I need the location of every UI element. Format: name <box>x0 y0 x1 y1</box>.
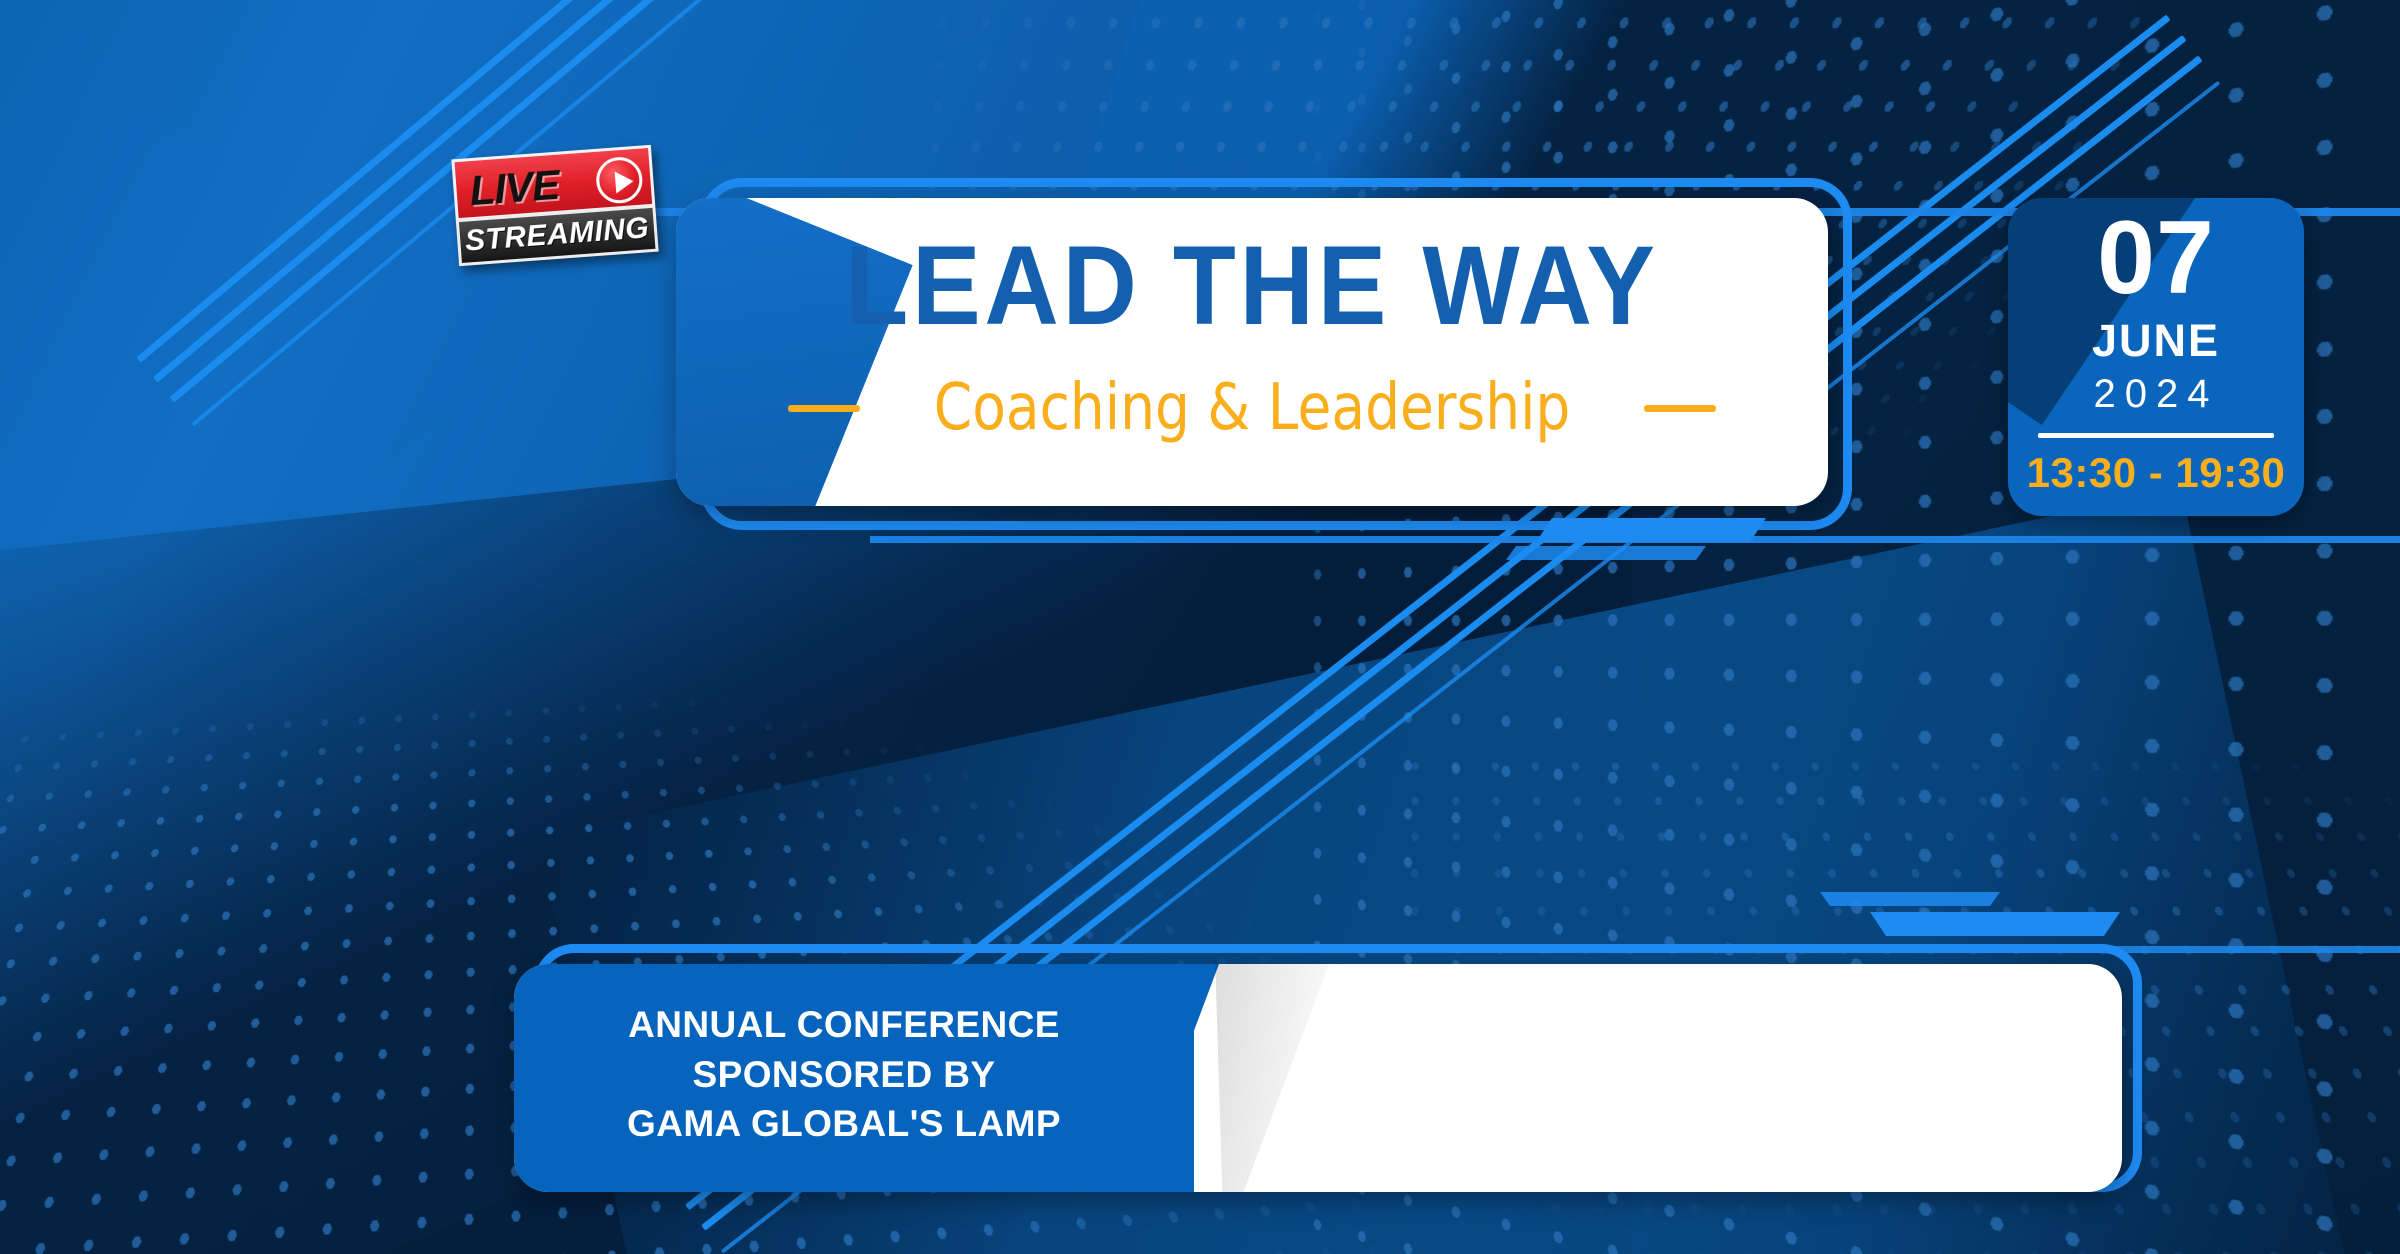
sponsor-card-wedge-shadow <box>1214 964 1454 1192</box>
subtitle-dash-left <box>788 405 860 412</box>
sponsor-line-1: ANNUAL CONFERENCE <box>514 1000 1174 1050</box>
event-month: JUNE <box>2008 318 2304 363</box>
title-subtitle-row: Coaching & Leadership <box>676 376 1828 440</box>
title-accent-bar-secondary <box>1506 546 1706 560</box>
sponsor-line-3: GAMA GLOBAL'S LAMP <box>514 1099 1174 1149</box>
event-time-range: 13:30 - 19:30 <box>2008 452 2304 494</box>
title-card: LEAD THE WAY Coaching & Leadership <box>676 198 1828 506</box>
bottom-accent-bar <box>1870 912 2120 936</box>
bottom-accent-bar-secondary <box>1820 892 2000 906</box>
sponsor-line-2: SPONSORED BY <box>514 1050 1174 1100</box>
subtitle-dash-right <box>1644 405 1716 412</box>
play-icon <box>595 156 644 205</box>
event-banner: LIVE STREAMING LEAD THE WAY Coaching & L… <box>0 0 2400 1254</box>
event-day: 07 <box>2008 206 2304 310</box>
streaming-label: STREAMING <box>459 211 655 259</box>
page-subtitle: Coaching & Leadership <box>934 376 1571 440</box>
live-streaming-badge[interactable]: LIVE STREAMING <box>451 145 658 266</box>
live-label: LIVE <box>468 161 561 215</box>
date-divider <box>2038 433 2274 438</box>
event-year: 2024 <box>2008 374 2304 414</box>
date-card: 07 JUNE 2024 13:30 - 19:30 <box>2008 198 2304 516</box>
page-title: LEAD THE WAY <box>722 230 1782 342</box>
title-accent-bar <box>1536 518 1766 542</box>
sponsor-card: ANNUAL CONFERENCE SPONSORED BY GAMA GLOB… <box>514 964 2122 1192</box>
sponsor-text: ANNUAL CONFERENCE SPONSORED BY GAMA GLOB… <box>514 1000 1174 1149</box>
